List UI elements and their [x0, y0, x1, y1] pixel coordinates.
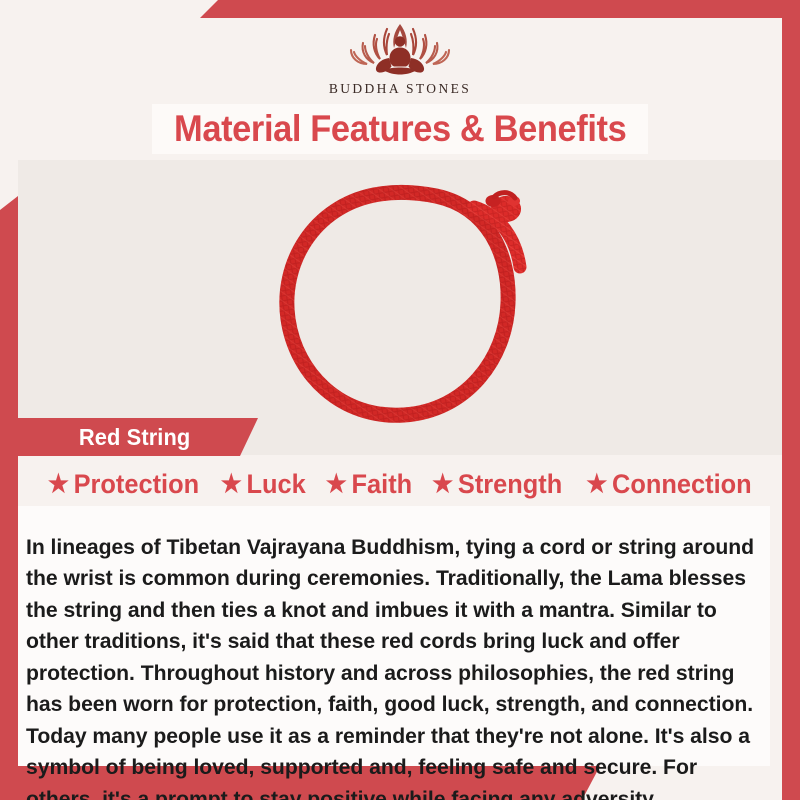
benefit-item-strength: ★ Strength — [426, 469, 569, 500]
benefit-label: Protection — [74, 469, 200, 500]
brand-logo: BUDDHA STONES — [0, 18, 800, 98]
product-label: Red String — [79, 424, 190, 451]
star-icon: ★ — [325, 472, 346, 497]
title-banner: Material Features & Benefits — [152, 104, 648, 154]
star-icon: ★ — [48, 472, 69, 497]
decorative-left-stripe — [0, 196, 18, 800]
star-icon: ★ — [433, 472, 454, 497]
benefit-item-faith: ★ Faith — [319, 469, 419, 500]
brand-name: BUDDHA STONES — [329, 81, 471, 97]
star-icon: ★ — [221, 472, 242, 497]
page-title: Material Features & Benefits — [174, 108, 626, 150]
benefit-label: Connection — [612, 469, 752, 500]
star-icon: ★ — [586, 472, 607, 497]
benefit-item-connection: ★ Connection — [580, 469, 759, 500]
benefit-item-protection: ★ Protection — [41, 469, 205, 500]
benefits-list: ★ Protection ★ Luck ★ Faith ★ Strength ★… — [18, 463, 782, 505]
benefit-item-luck: ★ Luck — [214, 469, 312, 500]
decorative-right-stripe — [782, 0, 800, 800]
description-text: In lineages of Tibetan Vajrayana Buddhis… — [26, 532, 765, 800]
benefit-label: Faith — [351, 469, 412, 500]
lotus-meditation-icon — [325, 18, 475, 80]
red-string-bracelet-image — [238, 163, 568, 443]
benefit-label: Strength — [458, 469, 562, 500]
infographic-poster: BUDDHA STONES Material Features & Benefi… — [0, 0, 800, 800]
product-label-banner: Red String — [18, 418, 258, 456]
benefit-label: Luck — [247, 469, 306, 500]
